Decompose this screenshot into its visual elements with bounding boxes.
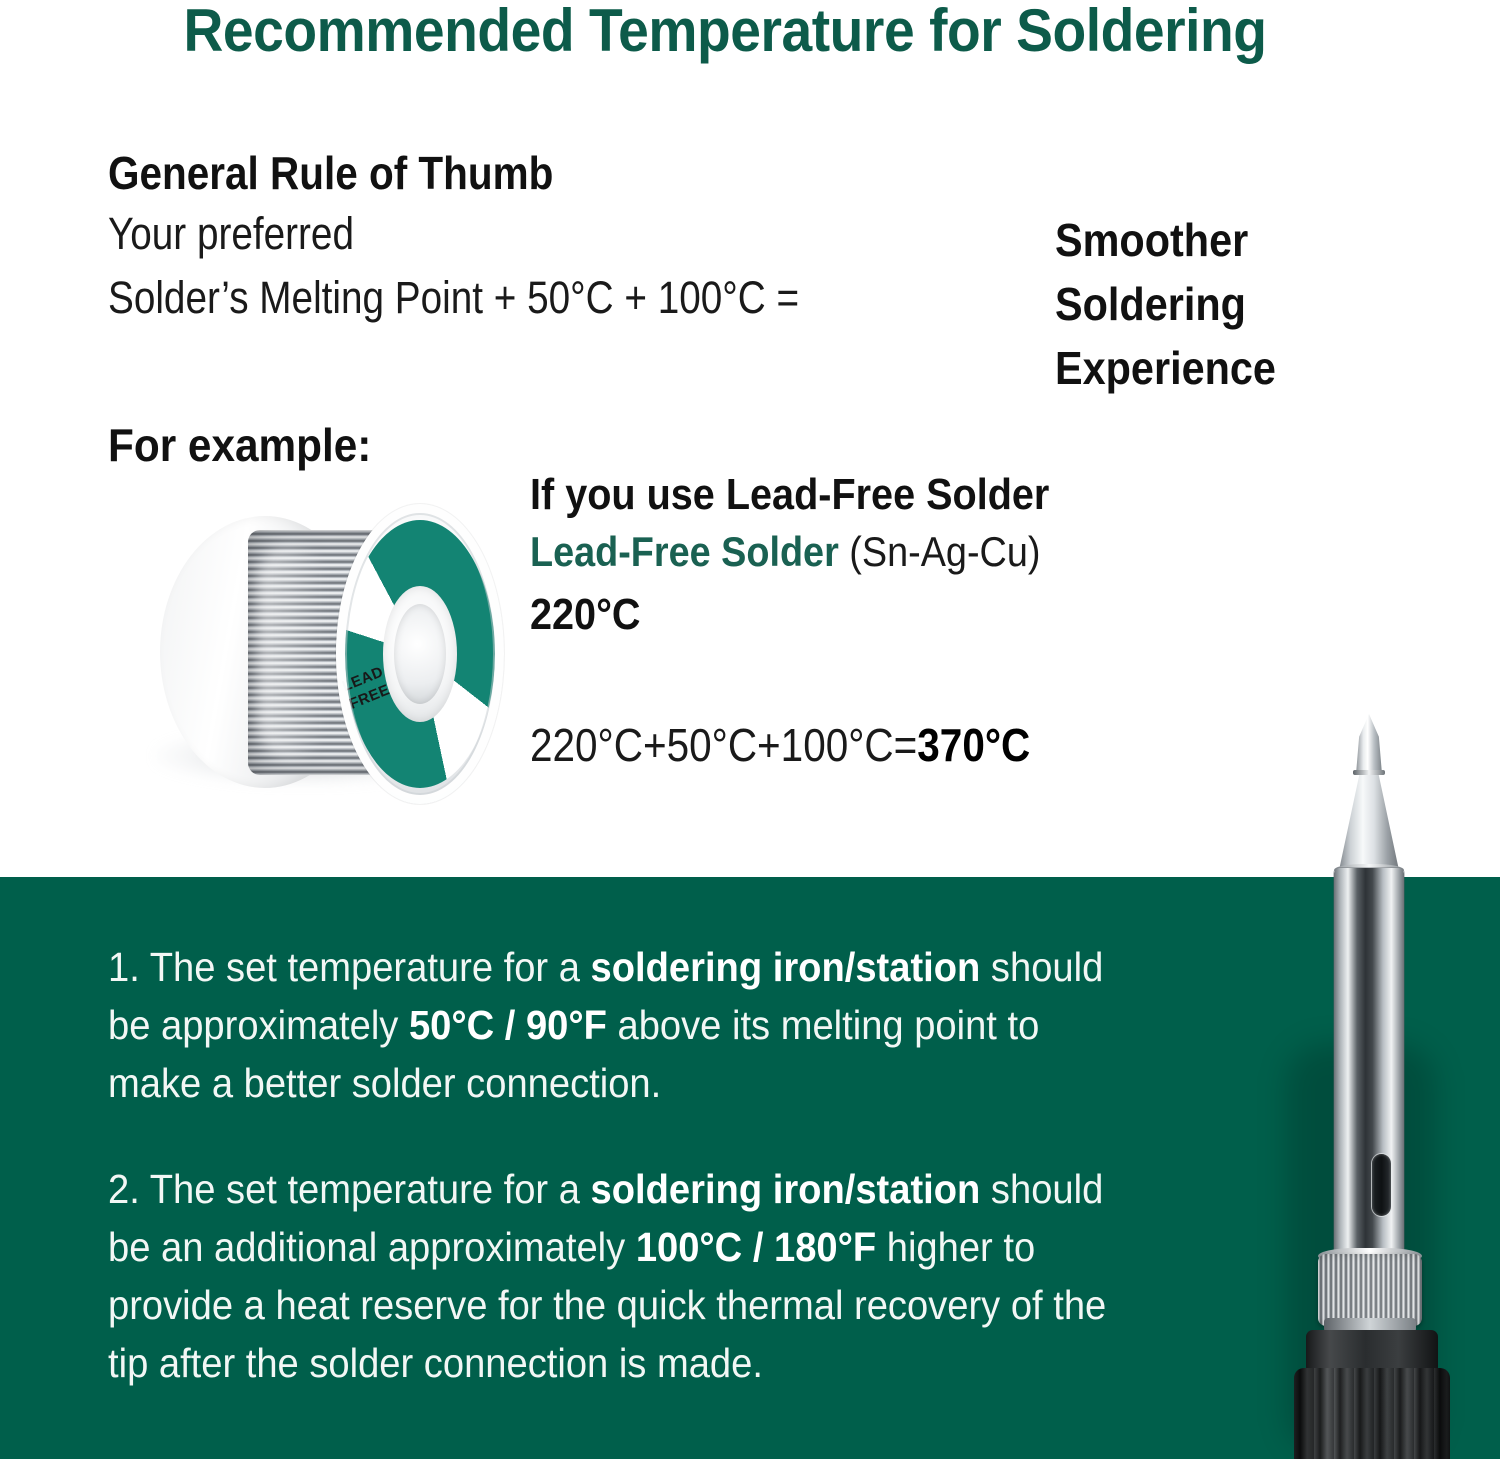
example-formula-prefix: 220°C+50°C+100°C= xyxy=(530,719,917,771)
general-rule-line-1: Your preferred xyxy=(108,208,354,260)
note-emphasis: 50°C / 90°F xyxy=(409,1002,607,1048)
example-melting-point: 220°C xyxy=(530,590,641,640)
iron-knurled-nut xyxy=(1318,1254,1422,1326)
note-2: 2. The set temperature for a soldering i… xyxy=(108,1160,1140,1392)
result-line-1: Smoother xyxy=(1055,208,1352,272)
note-text: 2. The set temperature for a xyxy=(108,1166,591,1212)
example-formula-result: 370°C xyxy=(917,719,1030,771)
general-rule-heading: General Rule of Thumb xyxy=(108,146,553,200)
page-title: Recommended Temperature for Soldering xyxy=(58,0,1392,65)
for-example-label: For example: xyxy=(108,418,371,472)
result-line-3: Experience xyxy=(1055,336,1352,400)
result-block: Smoother Soldering Experience xyxy=(1055,208,1352,400)
note-1: 1. The set temperature for a soldering i… xyxy=(108,938,1140,1112)
result-line-2: Soldering xyxy=(1055,272,1352,336)
spool-wire-highlight xyxy=(258,544,328,759)
iron-tip-point xyxy=(1356,714,1382,774)
iron-handle xyxy=(1294,1368,1450,1459)
example-solder-alloy: (Sn-Ag-Cu) xyxy=(849,528,1040,575)
note-text: 1. The set temperature for a xyxy=(108,944,591,990)
note-emphasis: soldering iron/station xyxy=(591,944,981,990)
spool-front-flange: LEAD FREE xyxy=(336,504,504,804)
poster-root: Recommended Temperature for Soldering Ge… xyxy=(0,0,1500,1459)
iron-barrel-slot xyxy=(1372,1154,1391,1216)
soldering-iron-image xyxy=(1296,714,1500,1459)
iron-tip-cone xyxy=(1338,770,1400,875)
green-notes-banner: 1. The set temperature for a soldering i… xyxy=(0,877,1500,1459)
solder-spool-image: LEAD FREE xyxy=(148,498,508,823)
note-emphasis: 100°C / 180°F xyxy=(636,1224,876,1270)
example-solder-line: Lead-Free Solder (Sn-Ag-Cu) xyxy=(530,528,1040,576)
example-solder-name: Lead-Free Solder xyxy=(530,528,839,575)
example-heading: If you use Lead-Free Solder xyxy=(530,470,1049,520)
example-formula: 220°C+50°C+100°C=370°C xyxy=(530,718,1030,772)
iron-tip-ring xyxy=(1353,770,1385,775)
iron-barrel xyxy=(1334,868,1404,1258)
general-rule-line-2: Solder’s Melting Point + 50°C + 100°C = xyxy=(108,272,799,324)
note-emphasis: soldering iron/station xyxy=(591,1166,981,1212)
